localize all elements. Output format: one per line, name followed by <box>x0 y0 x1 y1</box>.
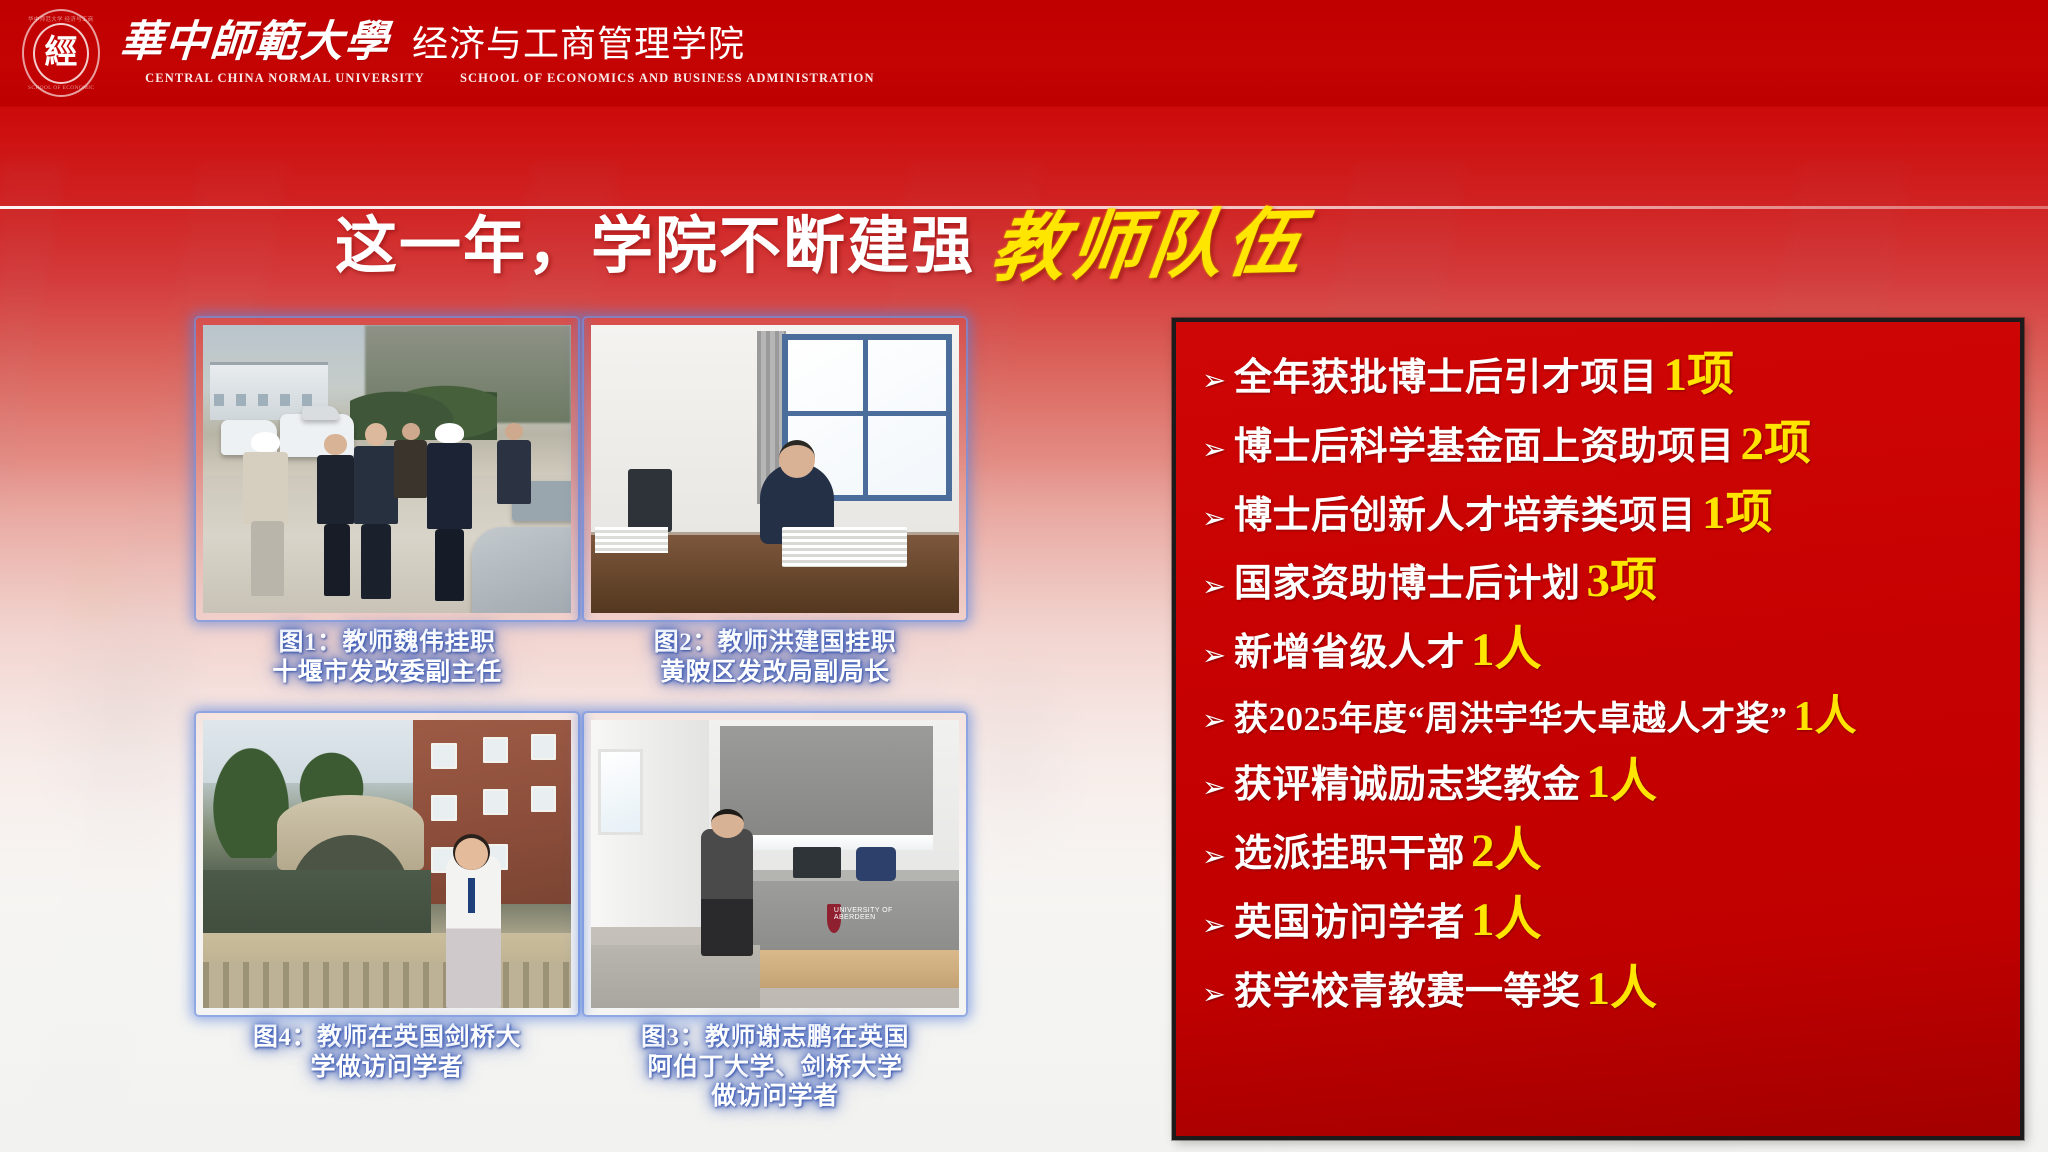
university-name-en: CENTRAL CHINA NORMAL UNIVERSITY <box>120 71 450 86</box>
achievement-count: 1项 <box>1702 490 1773 537</box>
university-name-cn: 華中師範大學 <box>118 20 391 65</box>
school-name-en: SCHOOL OF ECONOMICS AND BUSINESS ADMINIS… <box>460 71 875 86</box>
achievement-item: ➢ 选派挂职干部 2人 <box>1194 828 2004 876</box>
achievement-count: 1项 <box>1664 352 1735 399</box>
achievements-panel: ➢ 全年获批博士后引才项目 1项 ➢ 博士后科学基金面上资助项目 2项 ➢ 博士… <box>1172 318 2024 1140</box>
achievement-text: 获2025年度“周洪宇华大卓越人才奖” <box>1234 701 1788 738</box>
logo-arc-top-text: 华中师范大学 经济与工商管理学院 <box>28 15 94 23</box>
aberdeen-logo-text: UNIVERSITY OF ABERDEEN <box>834 907 915 933</box>
slide-title: 这一年，学院不断建强 教师队伍 <box>0 186 1640 293</box>
slide-root: 华中师范大学 经济与工商管理学院 經 SCHOOL OF ECONOMICS A… <box>0 0 2048 1152</box>
achievement-text: 获评精诚励志奖教金 <box>1234 765 1581 807</box>
photo-caption-3: 图3：教师谢志鹏在英国 阿伯丁大学、剑桥大学 做访问学者 <box>584 1023 966 1112</box>
photo-grid: 图1：教师魏伟挂职 十堰市发改委副主任 <box>196 318 966 1112</box>
achievement-item: ➢ 国家资助博士后计划 3项 <box>1194 558 2004 606</box>
achievement-item: ➢ 英国访问学者 1人 <box>1194 897 2004 945</box>
photo-frame-1[interactable] <box>196 318 578 620</box>
achievement-count: 1人 <box>1794 696 1857 738</box>
bullet-arrow-icon: ➢ <box>1194 641 1234 670</box>
achievement-count: 2项 <box>1741 421 1812 468</box>
university-logo-icon: 华中师范大学 经济与工商管理学院 經 SCHOOL OF ECONOMICS A… <box>14 6 108 100</box>
header-wordmark: 華中師範大學 经济与工商管理学院 CENTRAL CHINA NORMAL UN… <box>120 20 875 85</box>
school-name-cn: 经济与工商管理学院 <box>412 24 745 64</box>
bullet-arrow-icon: ➢ <box>1194 980 1234 1009</box>
photo-4-image <box>203 720 571 1008</box>
achievement-count: 1人 <box>1471 897 1542 944</box>
bullet-arrow-icon: ➢ <box>1194 366 1234 395</box>
achievement-count: 1人 <box>1587 966 1658 1013</box>
bullet-arrow-icon: ➢ <box>1194 842 1234 871</box>
bullet-arrow-icon: ➢ <box>1194 911 1234 940</box>
photo-frame-2[interactable] <box>584 318 966 620</box>
achievement-item: ➢ 新增省级人才 1人 <box>1194 627 2004 675</box>
achievement-text: 全年获批博士后引才项目 <box>1234 358 1658 400</box>
achievement-count: 1人 <box>1471 627 1542 674</box>
bullet-arrow-icon: ➢ <box>1194 706 1234 735</box>
photo-caption-4: 图4：教师在英国剑桥大 学做访问学者 <box>196 1023 578 1082</box>
achievement-item: ➢ 博士后创新人才培养类项目 1项 <box>1194 490 2004 538</box>
photo-row-top: 图1：教师魏伟挂职 十堰市发改委副主任 <box>196 318 966 687</box>
photo-cell-3: UNIVERSITY OF ABERDEEN 图3：教师谢志鹏在英国 阿伯丁大学… <box>584 713 966 1112</box>
achievement-count: 1人 <box>1587 759 1658 806</box>
title-accent-text: 教师队伍 <box>986 183 1312 297</box>
achievement-text: 新增省级人才 <box>1234 633 1465 675</box>
achievement-text: 国家资助博士后计划 <box>1234 564 1581 606</box>
header-banner: 华中师范大学 经济与工商管理学院 經 SCHOOL OF ECONOMICS A… <box>0 0 2048 106</box>
bullet-arrow-icon: ➢ <box>1194 435 1234 464</box>
photo-3-image: UNIVERSITY OF ABERDEEN <box>591 720 959 1008</box>
achievement-item: ➢ 全年获批博士后引才项目 1项 <box>1194 352 2004 400</box>
bullet-arrow-icon: ➢ <box>1194 504 1234 533</box>
title-main-text: 这一年，学院不断建强 <box>335 195 975 285</box>
photo-frame-3[interactable]: UNIVERSITY OF ABERDEEN <box>584 713 966 1015</box>
photo-cell-4: 图4：教师在英国剑桥大 学做访问学者 <box>196 713 578 1112</box>
achievement-item: ➢ 获学校青教赛一等奖 1人 <box>1194 966 2004 1014</box>
achievement-item: ➢ 博士后科学基金面上资助项目 2项 <box>1194 421 2004 469</box>
achievement-text: 英国访问学者 <box>1234 903 1465 945</box>
achievement-text: 选派挂职干部 <box>1234 834 1465 876</box>
logo-arc-bottom-text: SCHOOL OF ECONOMICS AND BUSINESS <box>28 85 94 91</box>
achievement-item: ➢ 获评精诚励志奖教金 1人 <box>1194 759 2004 807</box>
bullet-arrow-icon: ➢ <box>1194 572 1234 601</box>
photo-1-image <box>203 325 571 613</box>
photo-caption-2: 图2：教师洪建国挂职 黄陂区发改局副局长 <box>584 628 966 687</box>
achievement-count: 3项 <box>1587 558 1658 605</box>
photo-cell-2: 图2：教师洪建国挂职 黄陂区发改局副局长 <box>584 318 966 687</box>
achievement-item: ➢ 获2025年度“周洪宇华大卓越人才奖” 1人 <box>1194 696 2004 738</box>
photo-frame-4[interactable] <box>196 713 578 1015</box>
photo-cell-1: 图1：教师魏伟挂职 十堰市发改委副主任 <box>196 318 578 687</box>
bullet-arrow-icon: ➢ <box>1194 773 1234 802</box>
achievement-text: 博士后创新人才培养类项目 <box>1234 496 1696 538</box>
photo-row-bottom: 图4：教师在英国剑桥大 学做访问学者 UNIVERSITY OF ABERDEE… <box>196 713 966 1112</box>
achievement-text: 博士后科学基金面上资助项目 <box>1234 427 1735 469</box>
logo-center-glyph: 經 <box>45 37 78 70</box>
achievement-count: 2人 <box>1471 828 1542 875</box>
photo-2-image <box>591 325 959 613</box>
achievement-text: 获学校青教赛一等奖 <box>1234 972 1581 1014</box>
photo-caption-1: 图1：教师魏伟挂职 十堰市发改委副主任 <box>196 628 578 687</box>
